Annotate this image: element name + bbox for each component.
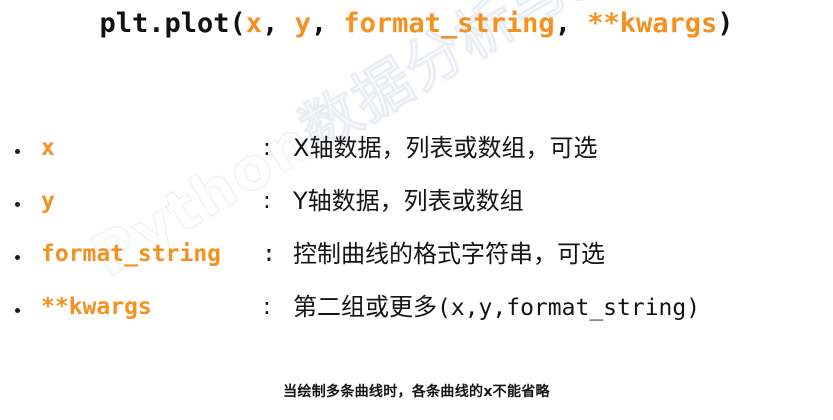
- bullet-dot-icon: [15, 255, 20, 260]
- signature-arg-format-string: format_string: [343, 8, 554, 39]
- parameter-separator: :: [263, 184, 271, 218]
- parameter-name-format-string: format_string: [41, 237, 221, 271]
- bullet-dot-icon: [15, 202, 20, 207]
- function-signature: plt.plot(x, y, format_string, **kwargs): [0, 8, 833, 39]
- parameter-separator: :: [263, 131, 271, 165]
- list-item: **kwargs : 第二组或更多(x,y,format_string): [0, 290, 833, 343]
- list-item: format_string : 控制曲线的格式字符串，可选: [0, 237, 833, 290]
- parameter-name-x: x: [41, 131, 55, 165]
- list-item: y : Y轴数据，列表或数组: [0, 184, 833, 237]
- footer-note: 当绘制多条曲线时，各条曲线的x不能省略: [0, 381, 833, 401]
- parameter-description-x: X轴数据，列表或数组，可选: [293, 131, 597, 165]
- parameter-name-kwargs: **kwargs: [41, 290, 152, 324]
- bullet-dot-icon: [15, 149, 20, 154]
- parameter-separator: :: [263, 290, 271, 324]
- list-item: x : X轴数据，列表或数组，可选: [0, 131, 833, 184]
- parameter-description-y: Y轴数据，列表或数组: [293, 184, 524, 218]
- parameter-description-format-string: 控制曲线的格式字符串，可选: [293, 237, 605, 271]
- signature-prefix: plt.plot(: [99, 8, 245, 39]
- signature-separator-1: ,: [262, 8, 295, 39]
- parameter-separator: :: [262, 237, 276, 271]
- signature-arg-x: x: [246, 8, 262, 39]
- parameter-description-kwargs-text: 第二组或更多: [293, 293, 437, 321]
- signature-suffix: ): [717, 8, 733, 39]
- signature-arg-y: y: [295, 8, 311, 39]
- parameter-name-y: y: [41, 184, 55, 218]
- parameter-description-kwargs-signature: (x,y,format_string): [437, 295, 700, 321]
- signature-arg-kwargs: **kwargs: [587, 8, 717, 39]
- signature-separator-3: ,: [555, 8, 588, 39]
- parameter-list: x : X轴数据，列表或数组，可选 y : Y轴数据，列表或数组 format_…: [0, 131, 833, 343]
- bullet-dot-icon: [15, 308, 20, 313]
- signature-separator-2: ,: [311, 8, 344, 39]
- parameter-description-kwargs: 第二组或更多(x,y,format_string): [293, 290, 700, 325]
